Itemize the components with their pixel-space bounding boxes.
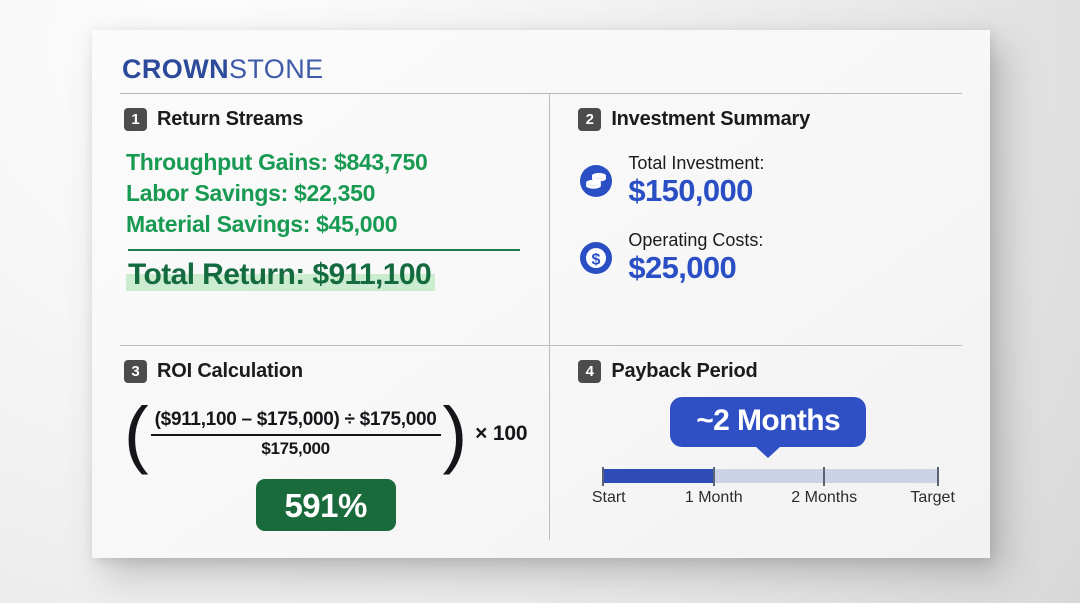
roi-result-badge: 591% (256, 479, 396, 531)
payback-tick-start (602, 467, 604, 486)
payback-label-1-month: 1 Month (685, 489, 743, 507)
total-return-label: Total Return: $911,100 (128, 257, 431, 293)
investment-item-total-value: $150,000 (628, 174, 764, 208)
investment-item-total-text: Total Investment: $150,000 (628, 153, 764, 208)
svg-text:$: $ (592, 251, 601, 268)
return-line-material: Material Savings: $45,000 (126, 209, 527, 240)
section-number-badge-4: 4 (578, 360, 601, 383)
return-streams-total-divider (128, 249, 520, 251)
formula-open-paren: ( (124, 403, 149, 465)
section-number-badge-1: 1 (124, 108, 147, 131)
section-number-badge-2: 2 (578, 108, 601, 131)
total-return-row: Total Return: $911,100 (128, 257, 431, 293)
payback-period-body: ~2 Months Start 1 Month 2 Months (578, 397, 958, 511)
panel-return-streams: 1 Return Streams Throughput Gains: $843,… (120, 94, 550, 346)
investment-item-operating-value: $25,000 (628, 251, 763, 285)
return-streams-list: Throughput Gains: $843,750 Labor Savings… (124, 147, 527, 293)
return-line-throughput: Throughput Gains: $843,750 (126, 147, 527, 178)
roi-formula: ( ($911,100 – $175,000) ÷ $175,000 $175,… (124, 403, 527, 465)
payback-period-heading: 4 Payback Period (578, 360, 958, 383)
payback-progress-bar (603, 469, 938, 483)
roi-summary-card: CROWNSTONE 1 Return Streams Throughput G… (92, 30, 990, 558)
coins-stack-icon (578, 163, 614, 199)
investment-item-operating-text: Operating Costs: $25,000 (628, 230, 763, 285)
logo-light-part: STONE (229, 54, 324, 84)
logo-text: CROWNSTONE (122, 56, 962, 83)
payback-progress-fill (603, 469, 713, 483)
formula-close-paren: ) (443, 403, 468, 465)
investment-item-operating: $ Operating Costs: $25,000 (578, 230, 958, 285)
panel-grid: 1 Return Streams Throughput Gains: $843,… (120, 94, 962, 540)
payback-callout: ~2 Months (670, 397, 866, 447)
payback-tick-1-month (713, 467, 715, 486)
payback-label-2-months: 2 Months (791, 489, 857, 507)
return-streams-heading: 1 Return Streams (124, 108, 527, 131)
logo-bold-part: CROWN (122, 54, 229, 84)
payback-callout-pointer (755, 446, 781, 458)
payback-label-target: Target (910, 489, 954, 507)
brand-logo: CROWNSTONE (120, 52, 962, 93)
return-streams-title: Return Streams (157, 108, 303, 131)
dollar-coin-icon: $ (578, 240, 614, 276)
roi-calculation-heading: 3 ROI Calculation (124, 360, 527, 383)
investment-item-total: Total Investment: $150,000 (578, 153, 958, 208)
formula-numerator: ($911,100 – $175,000) ÷ $175,000 (151, 409, 441, 434)
formula-fraction: ($911,100 – $175,000) ÷ $175,000 $175,00… (151, 409, 441, 459)
payback-tick-labels: Start 1 Month 2 Months Target (603, 489, 938, 511)
investment-summary-heading: 2 Investment Summary (578, 108, 958, 131)
payback-label-start: Start (592, 489, 626, 507)
return-line-labor: Labor Savings: $22,350 (126, 178, 527, 209)
investment-summary-title: Investment Summary (611, 108, 810, 131)
payback-period-title: Payback Period (611, 360, 757, 383)
investment-item-total-label: Total Investment: (628, 153, 764, 173)
payback-tick-2-months (823, 467, 825, 486)
investment-item-operating-label: Operating Costs: (628, 230, 763, 250)
formula-denominator: $175,000 (261, 436, 330, 459)
panel-payback-period: 4 Payback Period ~2 Months (550, 346, 962, 540)
roi-result-value: 591% (284, 489, 366, 522)
roi-calculation-title: ROI Calculation (157, 360, 303, 383)
panel-roi-calculation: 3 ROI Calculation ( ($911,100 – $175,000… (120, 346, 550, 540)
payback-callout-row: ~2 Months (578, 397, 958, 447)
formula-multiplier: × 100 (475, 422, 527, 446)
section-number-badge-3: 3 (124, 360, 147, 383)
panel-investment-summary: 2 Investment Summary Total Investment: $… (550, 94, 962, 346)
payback-tick-target (937, 467, 939, 486)
payback-callout-text: ~2 Months (696, 404, 840, 437)
